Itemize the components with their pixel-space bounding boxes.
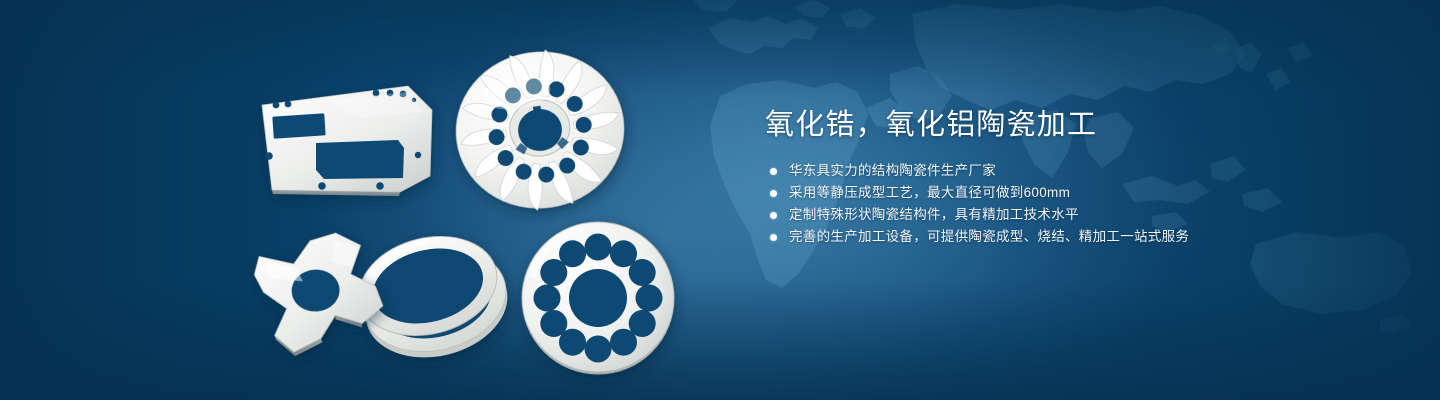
ceramic-plate [262, 86, 432, 196]
ceramic-impeller [446, 39, 635, 220]
ceramic-perforated-disc [522, 222, 674, 374]
copy-block: 氧化锆，氧化铝陶瓷加工 华东具实力的结构陶瓷件生产厂家 采用等静压成型工艺，最大… [765, 108, 1405, 252]
bullet-dot-icon [770, 212, 777, 219]
list-item-label: 定制特殊形状陶瓷结构件，具有精加工技术水平 [789, 208, 1079, 222]
product-photo-group [0, 0, 740, 400]
list-item: 采用等静压成型工艺，最大直径可做到600mm [765, 186, 1405, 200]
page-title: 氧化锆，氧化铝陶瓷加工 [765, 108, 1405, 142]
list-item: 华东具实力的结构陶瓷件生产厂家 [765, 164, 1405, 178]
list-item-label: 完善的生产加工设备，可提供陶瓷成型、烧结、精加工一站式服务 [789, 230, 1189, 244]
list-item: 完善的生产加工设备，可提供陶瓷成型、烧结、精加工一站式服务 [765, 230, 1405, 244]
bullet-dot-icon [770, 168, 777, 175]
list-item: 定制特殊形状陶瓷结构件，具有精加工技术水平 [765, 208, 1405, 222]
hero-banner: 氧化锆，氧化铝陶瓷加工 华东具实力的结构陶瓷件生产厂家 采用等静压成型工艺，最大… [0, 0, 1440, 400]
ceramic-cross-part [252, 230, 386, 358]
list-item-label: 采用等静压成型工艺，最大直径可做到600mm [789, 186, 1070, 200]
bullet-dot-icon [770, 234, 777, 241]
list-item-label: 华东具实力的结构陶瓷件生产厂家 [789, 164, 996, 178]
bullet-dot-icon [770, 190, 777, 197]
feature-list: 华东具实力的结构陶瓷件生产厂家 采用等静压成型工艺，最大直径可做到600mm 定… [765, 164, 1405, 244]
